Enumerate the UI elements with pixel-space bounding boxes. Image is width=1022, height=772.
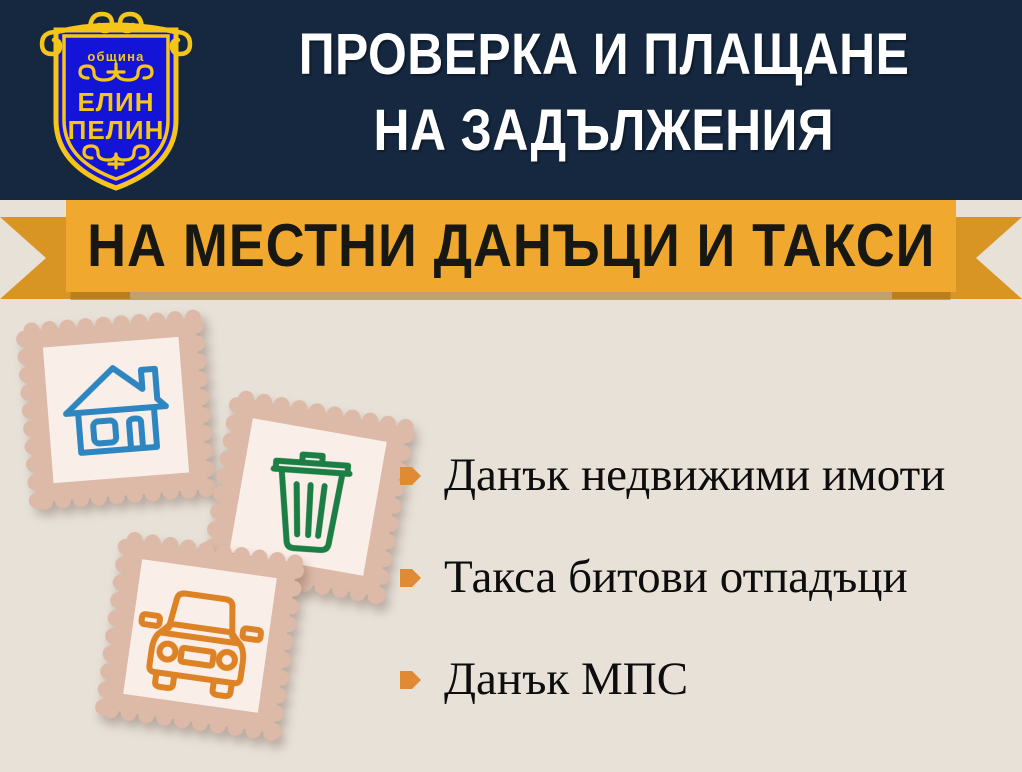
poster-header: община ЕЛИН ПЕЛИН: [0, 0, 1022, 200]
tax-types-list: Данък недвижими имоти Такса битови отпад…: [398, 424, 1010, 730]
page-title: ПРОВЕРКА И ПЛАЩАНЕ НА ЗАДЪЛЖЕНИЯ: [196, 18, 1012, 188]
svg-text:ПЕЛИН: ПЕЛИН: [68, 115, 165, 145]
arrow-pentagon-bullet-icon: [398, 463, 422, 489]
poster-canvas: община ЕЛИН ПЕЛИН: [0, 0, 1022, 772]
list-item[interactable]: Данък МПС: [398, 628, 1010, 730]
arrow-pentagon-bullet-icon: [398, 667, 422, 693]
svg-text:община: община: [87, 49, 144, 64]
title-line-2: НА ЗАДЪЛЖЕНИЯ: [374, 94, 835, 168]
list-item[interactable]: Данък недвижими имоти: [398, 424, 1010, 526]
coat-of-arms-shield-icon: община ЕЛИН ПЕЛИН: [36, 8, 196, 193]
title-line-1: ПРОВЕРКА И ПЛАЩАНЕ: [299, 18, 910, 92]
list-item-label: Такса битови отпадъци: [444, 551, 908, 603]
ribbon-banner: НА МЕСТНИ ДАНЪЦИ И ТАКСИ: [66, 200, 956, 292]
ribbon-label: НА МЕСТНИ ДАНЪЦИ И ТАКСИ: [87, 216, 935, 276]
stamp-card-property-tax: [8, 302, 223, 517]
arrow-pentagon-bullet-icon: [398, 565, 422, 591]
list-item-label: Данък МПС: [444, 653, 688, 705]
list-item[interactable]: Такса битови отпадъци: [398, 526, 1010, 628]
svg-text:ЕЛИН: ЕЛИН: [77, 87, 154, 117]
list-item-label: Данък недвижими имоти: [444, 449, 945, 501]
stamp-card-vehicle-tax: [87, 523, 313, 749]
subtitle-ribbon: НА МЕСТНИ ДАНЪЦИ И ТАКСИ: [0, 197, 1022, 307]
